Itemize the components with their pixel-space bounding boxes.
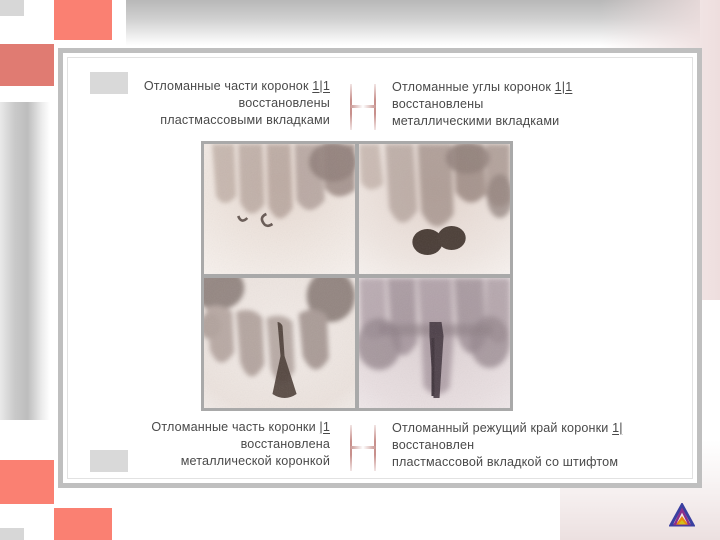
- radiograph-grid: [201, 141, 513, 411]
- deco-square-bottom-red: [54, 508, 112, 540]
- deco-gradient-bar-left: [0, 102, 50, 420]
- separator-bar-horizontal-icon: [350, 105, 376, 108]
- caption-top-right-line1-text: Отломанные углы коронок: [392, 80, 555, 94]
- deco-square-top-red-light: [54, 0, 112, 40]
- deco-square-top-left-gray: [0, 0, 24, 16]
- caption-bottom-left-line1: Отломанные часть коронки |1: [112, 419, 330, 436]
- caption-top-left: Отломанные части коронок 1|1 восстановле…: [112, 78, 330, 129]
- caption-bottom-right-line1-text: Отломанный режущий край коронки: [392, 421, 612, 435]
- radiograph-bottom-right: [359, 278, 510, 408]
- tooth-notation-top-right: 1|1: [555, 80, 573, 94]
- caption-bottom-right: Отломанный режущий край коронки 1| восст…: [392, 420, 692, 471]
- dental-quadrant-separator-top: [348, 84, 378, 130]
- deco-square-bottom-gray: [0, 528, 24, 540]
- tooth-notation-bottom-left: |1: [319, 420, 330, 434]
- tooth-notation-bottom-right: 1|: [612, 421, 623, 435]
- caption-bottom-right-line1: Отломанный режущий край коронки 1|: [392, 420, 692, 437]
- caption-top-right-line2: восстановлены: [392, 96, 692, 113]
- caption-top-left-line1: Отломанные части коронок 1|1: [112, 78, 330, 95]
- radiograph-top-right: [359, 144, 510, 274]
- deco-square-bottom-left-red: [0, 460, 54, 504]
- slide-canvas: Отломанные части коронок 1|1 восстановле…: [0, 0, 720, 540]
- triangle-logo: [669, 503, 695, 527]
- separator-bar-horizontal-icon: [350, 446, 376, 449]
- caption-top-left-line1-text: Отломанные части коронок: [144, 79, 312, 93]
- caption-bottom-left-line1-text: Отломанные часть коронки: [151, 420, 319, 434]
- caption-top-right-line3: металлическими вкладками: [392, 113, 692, 130]
- caption-bottom-right-line3: пластмассовой вкладкой со штифтом: [392, 454, 692, 471]
- deco-square-left-red-dark: [0, 44, 54, 86]
- dental-quadrant-separator-bottom: [348, 425, 378, 471]
- tooth-notation-top-left: 1|1: [312, 79, 330, 93]
- caption-bottom-right-line2: восстановлен: [392, 437, 692, 454]
- caption-top-right: Отломанные углы коронок 1|1 восстановлен…: [392, 79, 692, 130]
- caption-bottom-left: Отломанные часть коронки |1 восстановлен…: [112, 419, 330, 470]
- caption-top-left-line3: пластмассовыми вкладками: [112, 112, 330, 129]
- caption-bottom-left-line3: металлической коронкой: [112, 453, 330, 470]
- radiograph-bottom-left: [204, 278, 355, 408]
- caption-top-left-line2: восстановлены: [112, 95, 330, 112]
- caption-top-right-line1: Отломанные углы коронок 1|1: [392, 79, 692, 96]
- caption-bottom-left-line2: восстановлена: [112, 436, 330, 453]
- radiograph-top-left: [204, 144, 355, 274]
